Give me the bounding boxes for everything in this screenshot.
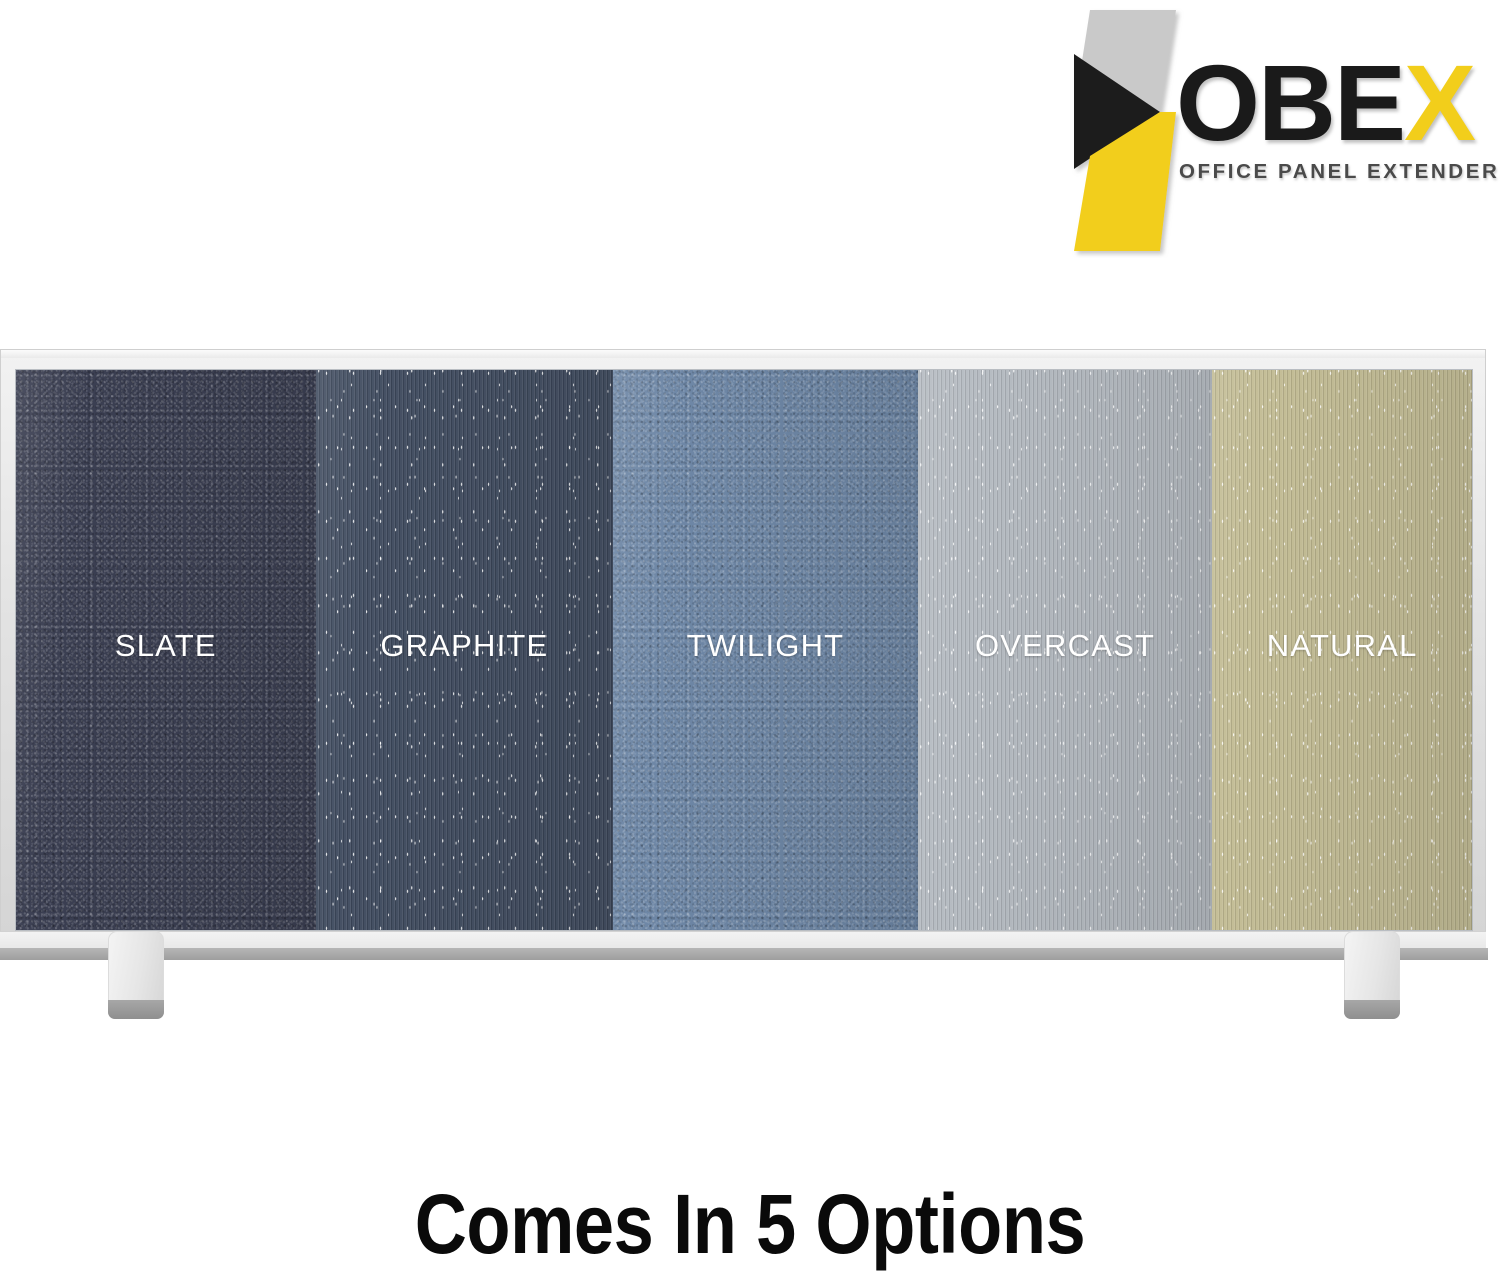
brand-tagline: OFFICE PANEL EXTENDERS [1179, 160, 1476, 184]
fabric-swatch-slate: SLATE [16, 370, 316, 930]
product-panel: SLATEGRAPHITETWILIGHTOVERCASTNATURAL [0, 349, 1500, 965]
swatch-label: SLATE [16, 628, 316, 664]
panel-bottom-shadow-rail [0, 948, 1488, 960]
frame-top-highlight [1, 350, 1485, 358]
mounting-bracket-right [1344, 931, 1400, 1019]
fabric-swatch-strip: SLATEGRAPHITETWILIGHTOVERCASTNATURAL [15, 369, 1473, 931]
mounting-bracket-left [108, 931, 164, 1019]
bracket-foot-left [108, 1000, 164, 1019]
wordmark-x: X [1404, 42, 1474, 163]
obex-wordmark: OBEX OFFICE PANEL EXTENDERS [1176, 48, 1476, 198]
fabric-swatch-overcast: OVERCAST [918, 370, 1213, 930]
swatch-label: OVERCAST [918, 628, 1213, 664]
fabric-swatch-natural: NATURAL [1212, 370, 1472, 930]
obex-chevron-mark [1068, 8, 1188, 258]
caption-text: Comes In 5 Options [105, 1178, 1395, 1270]
panel-frame: SLATEGRAPHITETWILIGHTOVERCASTNATURAL [0, 349, 1486, 958]
wordmark-obe: OBE [1176, 42, 1404, 163]
wordmark-text: OBEX [1176, 48, 1476, 158]
fabric-swatch-twilight: TWILIGHT [613, 370, 918, 930]
swatch-label: GRAPHITE [316, 628, 614, 664]
bracket-foot-right [1344, 1000, 1400, 1019]
swatch-label: TWILIGHT [613, 628, 918, 664]
fabric-swatch-graphite: GRAPHITE [316, 370, 614, 930]
brand-logo: OBEX OFFICE PANEL EXTENDERS [1068, 8, 1468, 258]
swatch-label: NATURAL [1212, 628, 1472, 664]
